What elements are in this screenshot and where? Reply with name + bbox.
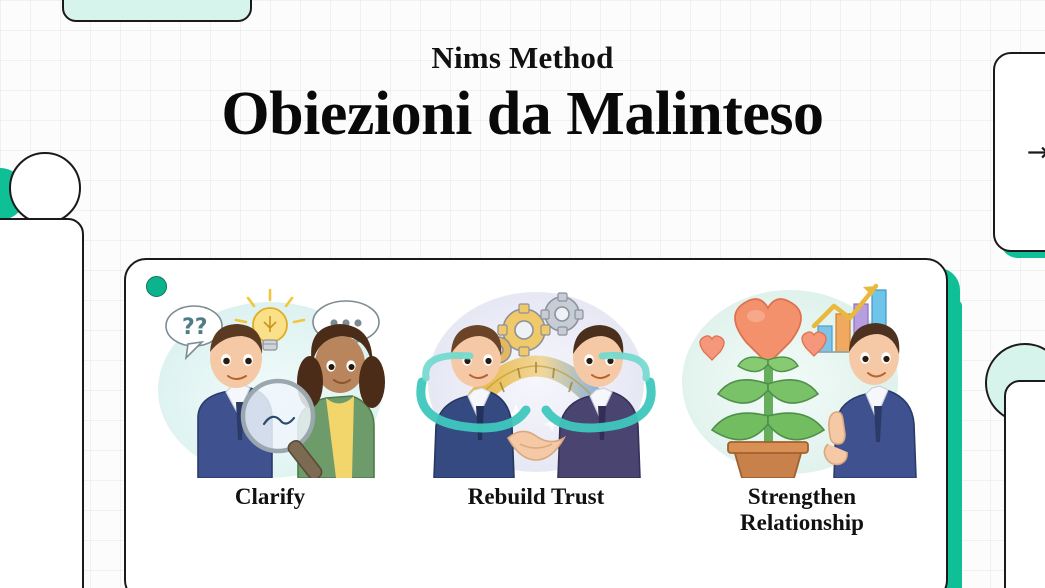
panel-label-clarify: Clarify bbox=[235, 484, 305, 510]
panel-clarify[interactable]: ?? bbox=[140, 278, 400, 510]
decor-right-white-panel bbox=[1004, 380, 1045, 588]
panel-strengthen-relationship[interactable]: Strengthen Relationship bbox=[672, 278, 932, 537]
main-content-card: ?? bbox=[124, 258, 948, 588]
clarify-illustration: ?? bbox=[146, 278, 394, 478]
panel-label-strengthen-relationship: Strengthen Relationship bbox=[712, 484, 892, 537]
slide-canvas: → Nims Method Obiezioni da Malinteso bbox=[0, 0, 1045, 588]
page-title: Obiezioni da Malinteso bbox=[0, 81, 1045, 148]
heading-block: Nims Method Obiezioni da Malinteso bbox=[0, 42, 1045, 148]
rebuild-trust-illustration bbox=[412, 278, 660, 478]
svg-text:??: ?? bbox=[182, 315, 208, 340]
panel-label-rebuild-trust: Rebuild Trust bbox=[468, 484, 605, 510]
decor-top-mint-rect bbox=[62, 0, 252, 22]
eyebrow-text: Nims Method bbox=[0, 42, 1045, 75]
decor-left-white-panel bbox=[0, 218, 84, 588]
strengthen-relationship-illustration bbox=[678, 278, 926, 478]
decor-left-white-circle bbox=[9, 152, 81, 224]
panel-rebuild-trust[interactable]: Rebuild Trust bbox=[406, 278, 666, 510]
panel-row: ?? bbox=[126, 278, 946, 537]
